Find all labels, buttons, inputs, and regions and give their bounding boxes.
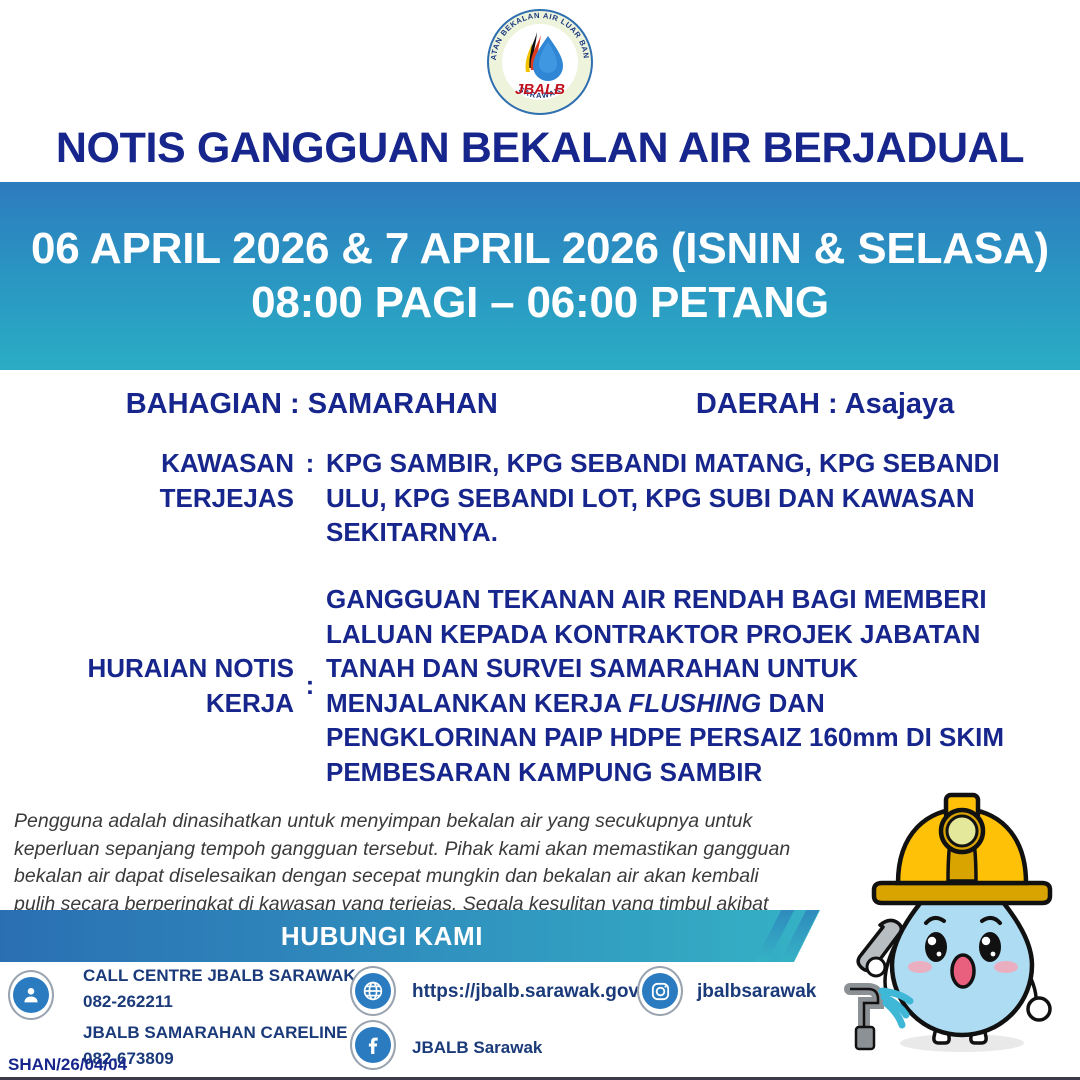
person-icon [8,970,54,1020]
contact-details: CALL CENTRE JBALB SARAWAK 082-262211 JBA… [0,958,860,1078]
person-icon-disc [13,977,49,1013]
division-label: BAHAGIAN : SAMARAHAN [126,388,498,421]
facebook-handle[interactable]: JBALB Sarawak [412,1035,542,1061]
affected-areas-row: KAWASAN TERJEJAS : KPG SAMBIR, KPG SEBAN… [32,446,1052,550]
globe-glyph [361,979,385,1003]
call-centre-phone[interactable]: 082-262211 [83,989,356,1015]
svg-text:JBALB: JBALB [515,81,565,98]
facebook-icon-disc [355,1027,391,1063]
facebook-block[interactable]: JBALB Sarawak [412,1035,542,1061]
contact-heading-label: HUBUNGI KAMI [281,921,483,952]
instagram-block[interactable]: jbalbsarawak [697,978,816,1007]
affected-areas-value: KPG SAMBIR, KPG SEBANDI MATANG, KPG SEBA… [326,446,1016,550]
jbalb-logo-icon: JABATAN BEKALAN AIR LUAR BANDAR SARAWAK … [486,8,594,116]
contact-heading-bar: HUBUNGI KAMI [0,910,820,962]
facebook-glyph [361,1033,385,1057]
work-description-colon: : [294,668,326,703]
location-row: BAHAGIAN : SAMARAHAN DAERAH : Asajaya [0,388,1080,421]
mascot-illustration [836,781,1072,1067]
affected-areas-label: KAWASAN TERJEJAS [32,446,294,550]
banner-date: 06 APRIL 2026 & 7 APRIL 2026 (ISNIN & SE… [31,224,1049,274]
water-droplet-worker-mascot [836,781,1072,1067]
globe-icon[interactable] [350,966,396,1016]
instagram-handle[interactable]: jbalbsarawak [697,978,816,1007]
work-description-italic: FLUSHING [628,688,761,718]
work-description-row: HURAIAN NOTIS KERJA : GANGGUAN TEKANAN A… [32,582,1052,789]
facebook-icon[interactable] [350,1020,396,1070]
jbalb-logo: JABATAN BEKALAN AIR LUAR BANDAR SARAWAK … [486,8,594,116]
instagram-glyph [649,980,672,1003]
careline-name: JBALB SAMARAHAN CARELINE [83,1020,347,1046]
banner-time: 08:00 PAGI – 06:00 PETANG [251,278,829,328]
page-title: NOTIS GANGGUAN BEKALAN AIR BERJADUAL [0,124,1080,173]
work-description-value: GANGGUAN TEKANAN AIR RENDAH BAGI MEMBERI… [326,582,1016,789]
affected-areas-colon: : [294,446,326,550]
schedule-banner: 06 APRIL 2026 & 7 APRIL 2026 (ISNIN & SE… [0,182,1080,370]
globe-icon-disc [355,973,391,1009]
district-label: DAERAH : Asajaya [696,388,954,421]
instagram-icon-disc [642,973,678,1009]
work-description-label: HURAIAN NOTIS KERJA [32,651,294,720]
instagram-icon[interactable] [637,966,683,1016]
notice-poster: JABATAN BEKALAN AIR LUAR BANDAR SARAWAK … [0,0,1080,1080]
contact-bar-shape: HUBUNGI KAMI [0,910,820,962]
call-centre-block: CALL CENTRE JBALB SARAWAK 082-262211 [83,963,356,1014]
reference-code: SHAN/26/04/04 [8,1055,127,1075]
call-centre-name: CALL CENTRE JBALB SARAWAK [83,963,356,989]
person-glyph [20,984,42,1006]
